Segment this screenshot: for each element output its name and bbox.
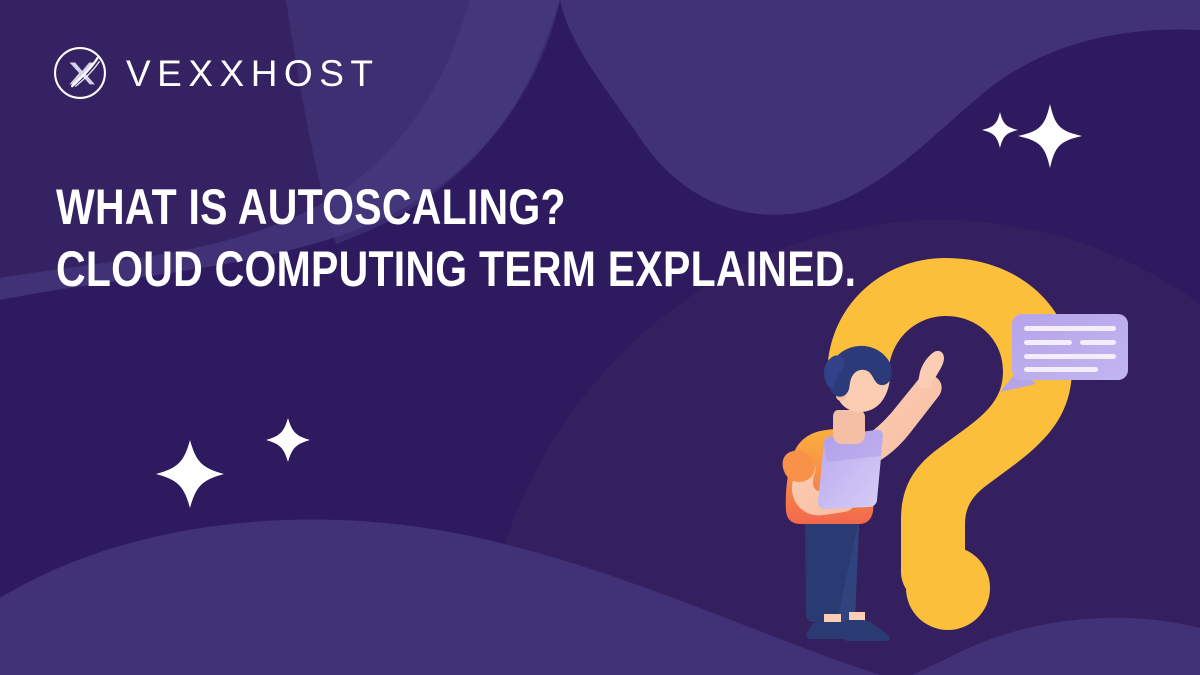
vexxhost-x-circle-icon [52,45,108,101]
brand-wordmark: VEXXHOST [126,55,380,92]
blog-banner: VEXXHOST WHAT IS AUTOSCALING? CLOUD COMP… [0,0,1200,675]
sparkle-layer [0,0,1200,675]
sparkle-top-right-small-icon [982,112,1018,148]
headline-line-2: CLOUD COMPUTING TERM EXPLAINED. [56,238,856,300]
headline-block: WHAT IS AUTOSCALING? CLOUD COMPUTING TER… [56,176,1032,300]
sparkle-top-right-large-icon [1018,104,1082,168]
sparkle-left-large-icon [156,440,224,508]
headline-line-1: WHAT IS AUTOSCALING? [56,176,856,238]
brand-logo[interactable]: VEXXHOST [52,45,380,101]
sparkle-left-small-icon [266,418,310,462]
